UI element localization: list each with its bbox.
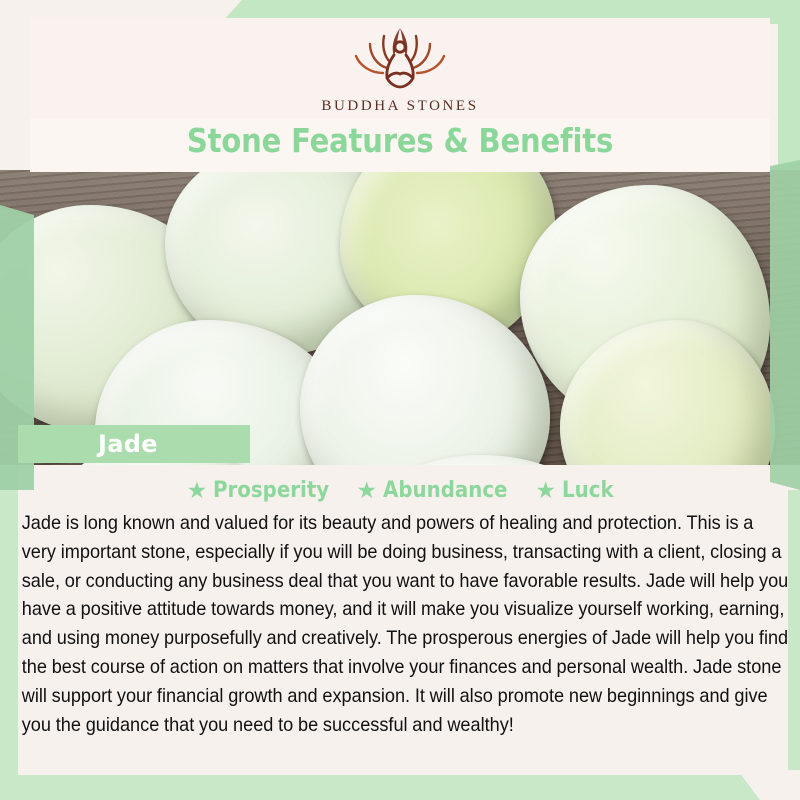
description-text: Jade is long known and valued for its be… <box>18 503 795 739</box>
infographic-card: BUDDHA STONES Stone Features & Benefits … <box>0 0 800 800</box>
benefit-label: Abundance <box>383 478 507 503</box>
page-title: Stone Features & Benefits <box>48 121 752 160</box>
star-icon: ★ <box>356 479 377 502</box>
benefit-item: ★ Luck <box>535 478 619 503</box>
benefit-item: ★ Prosperity <box>187 478 343 503</box>
content-panel: ★ Prosperity ★ Abundance ★ Luck Jade is … <box>18 465 788 775</box>
benefit-item: ★ Abundance <box>356 478 521 503</box>
star-icon: ★ <box>535 479 556 502</box>
brand-name: BUDDHA STONES <box>321 98 478 115</box>
stone-photo <box>0 170 800 465</box>
brand-logo: BUDDHA STONES <box>0 22 800 115</box>
frame-right-accent-bar <box>770 160 800 490</box>
benefit-keywords: ★ Prosperity ★ Abundance ★ Luck <box>18 465 788 503</box>
benefit-label: Luck <box>562 478 614 503</box>
star-icon: ★ <box>187 479 208 502</box>
stone-name-label: Jade <box>98 430 158 458</box>
stone-name-band: Jade <box>18 425 250 463</box>
lotus-meditation-icon <box>340 22 460 94</box>
benefit-label: Prosperity <box>213 478 329 503</box>
frame-left-edge <box>0 438 20 800</box>
